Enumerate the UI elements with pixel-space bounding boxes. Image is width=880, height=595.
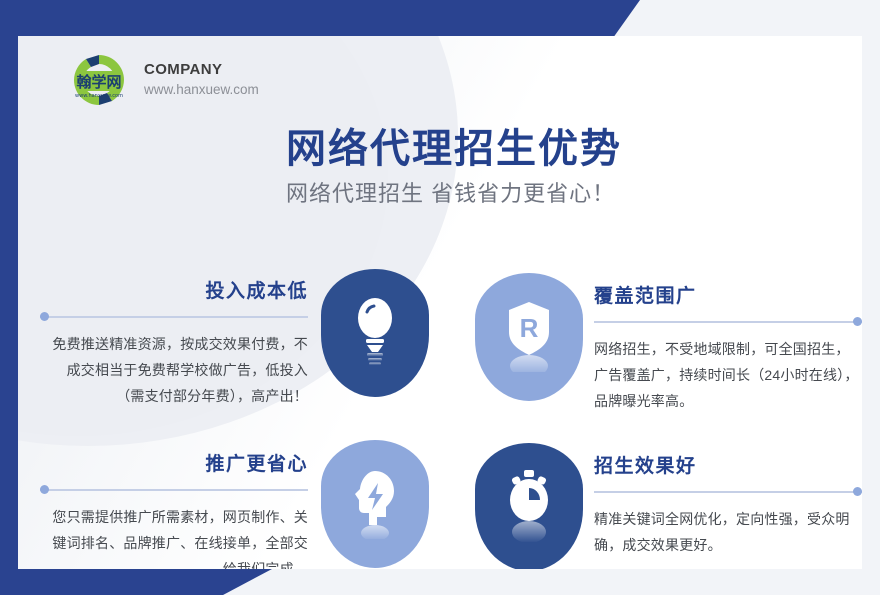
feature-icon-badge-3 — [321, 440, 429, 568]
head-bolt-icon — [345, 463, 405, 539]
feature-title: 覆盖范围广 — [594, 286, 862, 309]
slide-body: 翰学网 www.hanxuew.com COMPANY www.hanxuew.… — [18, 36, 862, 569]
feature-icon-badge-1 — [321, 269, 429, 397]
slide-canvas: 翰学网 www.hanxuew.com COMPANY www.hanxuew.… — [0, 0, 880, 595]
feature-card-4: 招生效果好 精准关键词全网优化，定向性强，受众明确，成交效果更好。 — [594, 456, 862, 559]
feature-body: 免费推送精准资源，按成交效果付费，不成交相当于免费帮学校做广告，低投入（需支付部… — [40, 332, 308, 410]
feature-body: 您只需提供推广所需素材，网页制作、关键词排名、品牌推广、在线接单，全部交给我们完… — [40, 505, 308, 569]
feature-card-2: 覆盖范围广 网络招生，不受地域限制，可全国招生，广告覆盖广，持续时间长（24小时… — [594, 286, 862, 414]
divider-dot-icon — [40, 485, 49, 494]
feature-title: 投入成本低 — [40, 281, 308, 304]
shield-r-icon: R — [499, 296, 559, 372]
stopwatch-icon — [499, 466, 559, 542]
svg-text:翰学网: 翰学网 — [76, 73, 121, 91]
page-subtitle: 网络代理招生 省钱省力更省心！ — [286, 176, 615, 208]
feature-divider — [594, 316, 862, 328]
feature-card-3: 推广更省心 您只需提供推广所需素材，网页制作、关键词排名、品牌推广、在线接单，全… — [40, 454, 308, 569]
feature-card-1: 投入成本低 免费推送精准资源，按成交效果付费，不成交相当于免费帮学校做广告，低投… — [40, 281, 308, 409]
divider-dot-icon — [853, 487, 862, 496]
feature-divider — [40, 311, 308, 323]
page-title: 网络代理招生优势 — [286, 116, 622, 174]
feature-divider — [40, 484, 308, 496]
feature-icon-badge-4 — [475, 443, 583, 569]
feature-icon-badge-2: R — [475, 273, 583, 401]
logo-url-mini: www.hanxuew.com — [75, 93, 123, 99]
company-url: www.hanxuew.com — [144, 80, 259, 100]
lightbulb-icon — [345, 292, 405, 368]
feature-body: 精准关键词全网优化，定向性强，受众明确，成交效果更好。 — [594, 507, 862, 559]
decor-top-bar — [0, 0, 640, 36]
feature-title: 推广更省心 — [40, 454, 308, 477]
svg-text:R: R — [520, 313, 539, 343]
divider-dot-icon — [40, 312, 49, 321]
feature-body: 网络招生，不受地域限制，可全国招生，广告覆盖广，持续时间长（24小时在线），品牌… — [594, 337, 862, 415]
brand-logo: 翰学网 www.hanxuew.com COMPANY www.hanxuew.… — [66, 50, 259, 110]
feature-divider — [594, 486, 862, 498]
divider-dot-icon — [853, 317, 862, 326]
feature-title: 招生效果好 — [594, 456, 862, 479]
company-label: COMPANY — [144, 60, 259, 80]
decor-bottom-bar — [0, 569, 272, 595]
decor-left-bar — [0, 0, 18, 595]
logo-mark-icon: 翰学网 www.hanxuew.com — [66, 50, 132, 110]
